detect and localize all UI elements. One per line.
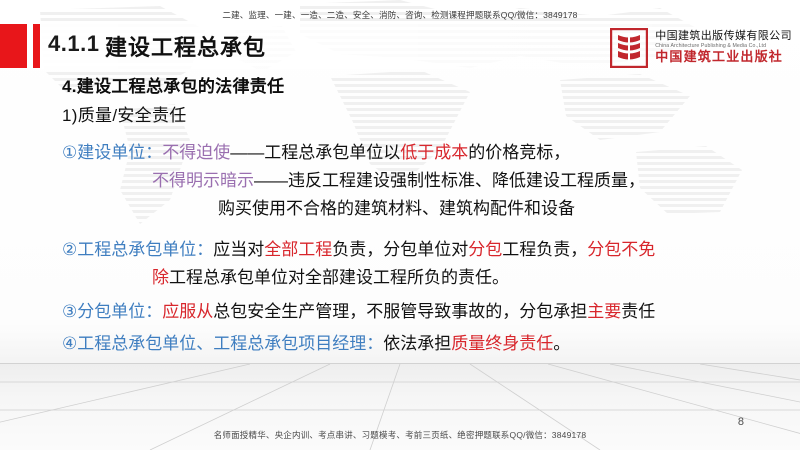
text-run: ③分包单位： — [62, 302, 162, 321]
text-run: 工程负责， — [502, 240, 587, 259]
text-run: 除 — [152, 268, 169, 287]
text-run: 购买使用不合格的建筑材料、建筑构配件和设备 — [218, 199, 575, 218]
text-run: ②工程总承包单位： — [62, 240, 213, 259]
item-2-line-1: ②工程总承包单位：应当对全部工程负责，分包单位对分包工程负责，分包不免 — [0, 236, 800, 264]
slide-body: 4.建设工程总承包的法律责任 1)质量/安全责任 ①建设单位：不得迫使——工程总… — [0, 74, 800, 358]
text-run: 主要 — [587, 302, 621, 321]
item-4-line-1: ④工程总承包单位、工程总承包项目经理：依法承担质量终身责任。 — [0, 330, 800, 358]
text-run: 不得明示暗示 — [152, 171, 254, 190]
text-run: 分包不免 — [587, 240, 655, 259]
text-run: 工程总承包单位对全部建设工程所负的责任。 — [169, 268, 509, 287]
publisher-logo-text: 中国建筑出版传媒有限公司 China Architecture Publishi… — [655, 31, 792, 65]
text-run: 分包 — [468, 240, 502, 259]
bottom-watermark-text: 名师面授精华、央企内训、考点串讲、习题模考、考前三页纸、绝密押题联系QQ/微信：… — [0, 429, 800, 441]
item-2-line-2: 除工程总承包单位对全部建设工程所负的责任。 — [0, 264, 800, 292]
item-1-line-1: ①建设单位：不得迫使——工程总承包单位以低于成本的价格竞标， — [0, 139, 800, 167]
text-run: 责任 — [621, 302, 655, 321]
page-number: 8 — [738, 416, 744, 428]
header-accent-bar — [33, 24, 40, 68]
text-run: 应服从 — [162, 302, 213, 321]
text-run: 负责，分包单位对 — [332, 240, 468, 259]
content-heading: 4.建设工程总承包的法律责任 — [0, 74, 800, 100]
publisher-company-en: China Architecture Publishing & Media Co… — [655, 44, 792, 49]
page-title: 建设工程总承包 — [105, 30, 266, 62]
text-run: ④工程总承包单位、工程总承包项目经理： — [62, 334, 383, 353]
publisher-company-cn: 中国建筑出版传媒有限公司 — [655, 31, 792, 43]
text-run: ——违反工程建设强制性标准、降低建设工程质量， — [254, 171, 645, 190]
slide-canvas: 二建、监理、一建、一造、二造、安全、消防、咨询、检测课程押题联系QQ/微信：38… — [0, 0, 800, 450]
content-subheading: 1)质量/安全责任 — [0, 102, 800, 130]
text-run: 依法承担 — [383, 334, 451, 353]
text-run: 低于成本 — [400, 143, 468, 162]
text-run: 应当对 — [213, 240, 264, 259]
section-number: 4.1.1 — [48, 31, 99, 57]
item-1-line-3: 购买使用不合格的建筑材料、建筑构配件和设备 — [0, 195, 800, 223]
text-run: 不得迫使 — [162, 143, 230, 162]
item-3-line-1: ③分包单位：应服从总包安全生产管理，不服管导致事故的，分包承担主要责任 — [0, 298, 800, 326]
header-accent-block — [0, 24, 27, 68]
publisher-press-cn: 中国建筑工业出版社 — [655, 51, 792, 65]
item-1-line-2: 不得明示暗示——违反工程建设强制性标准、降低建设工程质量， — [0, 167, 800, 195]
text-run: 。 — [553, 334, 570, 353]
publisher-logo-icon — [610, 28, 648, 68]
text-run: 总包安全生产管理，不服管导致事故的，分包承担 — [213, 302, 587, 321]
text-run: 的价格竞标， — [468, 143, 570, 162]
text-run: ——工程总承包单位以 — [230, 143, 400, 162]
text-run: ①建设单位： — [62, 143, 162, 162]
text-run: 质量终身责任 — [451, 334, 553, 353]
top-watermark-text: 二建、监理、一建、一造、二造、安全、消防、咨询、检测课程押题联系QQ/微信：38… — [0, 9, 800, 21]
publisher-logo: 中国建筑出版传媒有限公司 China Architecture Publishi… — [610, 26, 792, 70]
text-run: 全部工程 — [264, 240, 332, 259]
